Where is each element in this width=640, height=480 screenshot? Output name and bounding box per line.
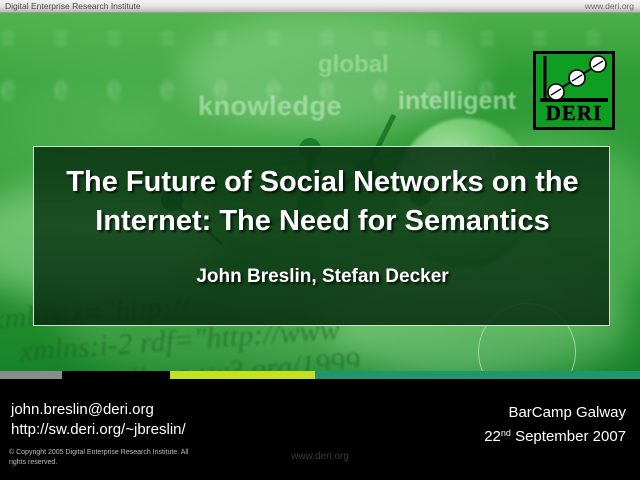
deri-logo-chart-icon: [536, 54, 612, 106]
color-stripe: [0, 371, 640, 379]
event-date-rest: September 2007: [511, 428, 626, 445]
stripe-segment-teal: [315, 371, 640, 379]
top-bar-title: Digital Enterprise Research Institute: [5, 0, 141, 13]
event-date: 22nd September 2007: [484, 423, 626, 447]
top-bar: Digital Enterprise Research Institute ww…: [0, 0, 640, 13]
contact-block: john.breslin@deri.org http://sw.deri.org…: [11, 400, 186, 440]
page-title-line-2: Internet: The Need for Semantics: [34, 202, 611, 241]
event-name: BarCamp Galway: [484, 403, 626, 423]
stripe-segment-gray: [0, 371, 62, 379]
page-title-line-1: The Future of Social Networks on the: [34, 163, 611, 202]
presentation-slide: Digital Enterprise Research Institute ww…: [0, 0, 640, 480]
stripe-segment-black: [62, 371, 170, 379]
stripe-segment-lime: [170, 371, 315, 379]
watermark-intelligent: intelligent: [398, 87, 516, 116]
deri-logo-text: DERI: [538, 103, 610, 124]
top-bar-url: www.deri.org: [585, 0, 634, 13]
slide-artwork-background: = = = = = = = = = = = = e e e e e e e e …: [0, 13, 640, 378]
contact-email[interactable]: john.breslin@deri.org: [11, 400, 186, 420]
watermark-knowledge: knowledge: [198, 91, 342, 122]
deri-logo: DERI: [533, 51, 615, 130]
page-title: The Future of Social Networks on the Int…: [34, 163, 611, 241]
slide-footer: john.breslin@deri.org http://sw.deri.org…: [0, 379, 640, 480]
event-date-ordinal: nd: [501, 428, 511, 438]
footer-url: www.deri.org: [0, 451, 640, 462]
event-info: BarCamp Galway 22nd September 2007: [484, 403, 626, 447]
authors-line: John Breslin, Stefan Decker: [34, 266, 611, 288]
watermark-global: global: [318, 51, 389, 79]
title-box: The Future of Social Networks on the Int…: [33, 146, 610, 326]
contact-homepage[interactable]: http://sw.deri.org/~jbreslin/: [11, 420, 186, 440]
event-date-day: 22: [484, 428, 501, 445]
